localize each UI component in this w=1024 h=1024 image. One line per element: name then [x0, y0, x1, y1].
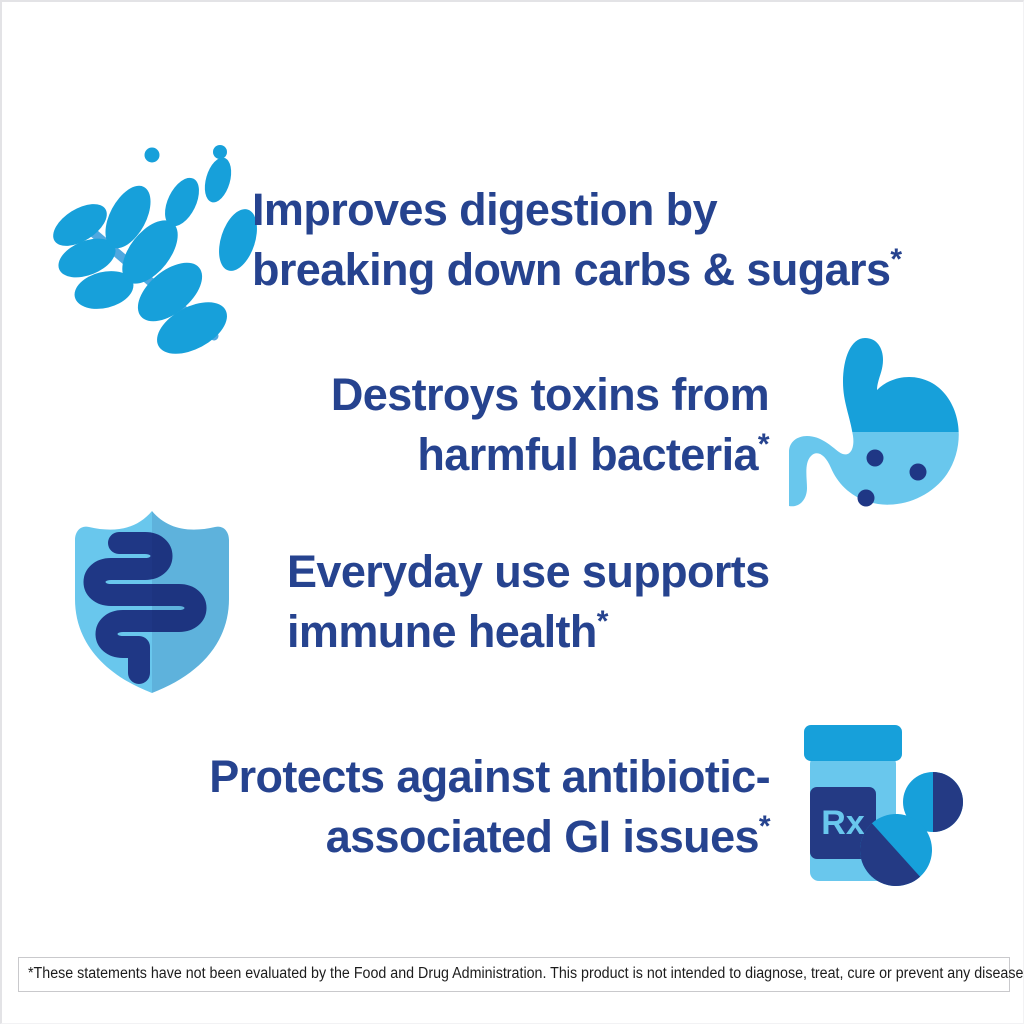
footnote-box: *These statements have not been evaluate…: [18, 957, 1010, 992]
pill-bottle-rx-label: Rx: [821, 804, 865, 842]
benefit-row-destroys-toxins: Destroys toxins fromharmful bacteria*: [42, 332, 972, 517]
footnote-marker: *: [758, 428, 769, 461]
benefit-row-immune-health: Everyday use supportsimmune health*: [57, 507, 1007, 697]
wheat-grain-icon: [42, 140, 242, 340]
footnote-marker: *: [759, 810, 770, 843]
benefit-line-1: Improves digestion by: [252, 184, 717, 235]
benefit-line-1: Everyday use supports: [287, 546, 770, 597]
benefit-line-1: Destroys toxins from: [331, 369, 769, 420]
benefit-text-destroys-toxins: Destroys toxins fromharmful bacteria*: [42, 365, 787, 485]
benefit-line-2: associated GI issues: [326, 811, 759, 862]
benefit-line-2: breaking down carbs & sugars: [252, 244, 890, 295]
infographic-canvas: Improves digestion bybreaking down carbs…: [0, 0, 1024, 1024]
stomach-icon: [787, 332, 972, 517]
benefit-line-1: Protects against antibiotic-: [209, 751, 770, 802]
footnote-disclaimer-text: *These statements have not been evaluate…: [28, 965, 922, 983]
footnote-marker: *: [597, 605, 608, 638]
benefit-line-2: harmful bacteria: [417, 429, 758, 480]
pill-bottle-icon: Rx: [792, 717, 982, 897]
benefit-row-antibiotic-protection: Protects against antibiotic-associated G…: [42, 717, 982, 897]
benefit-line-2: immune health: [287, 606, 597, 657]
benefit-text-improves-digestion: Improves digestion bybreaking down carbs…: [252, 180, 901, 300]
footnote-marker: *: [890, 243, 901, 276]
benefit-row-improves-digestion: Improves digestion bybreaking down carbs…: [42, 140, 992, 340]
benefit-text-antibiotic-protection: Protects against antibiotic-associated G…: [42, 747, 792, 867]
benefit-text-immune-health: Everyday use supportsimmune health*: [287, 542, 770, 662]
shield-gut-icon: [57, 507, 247, 697]
